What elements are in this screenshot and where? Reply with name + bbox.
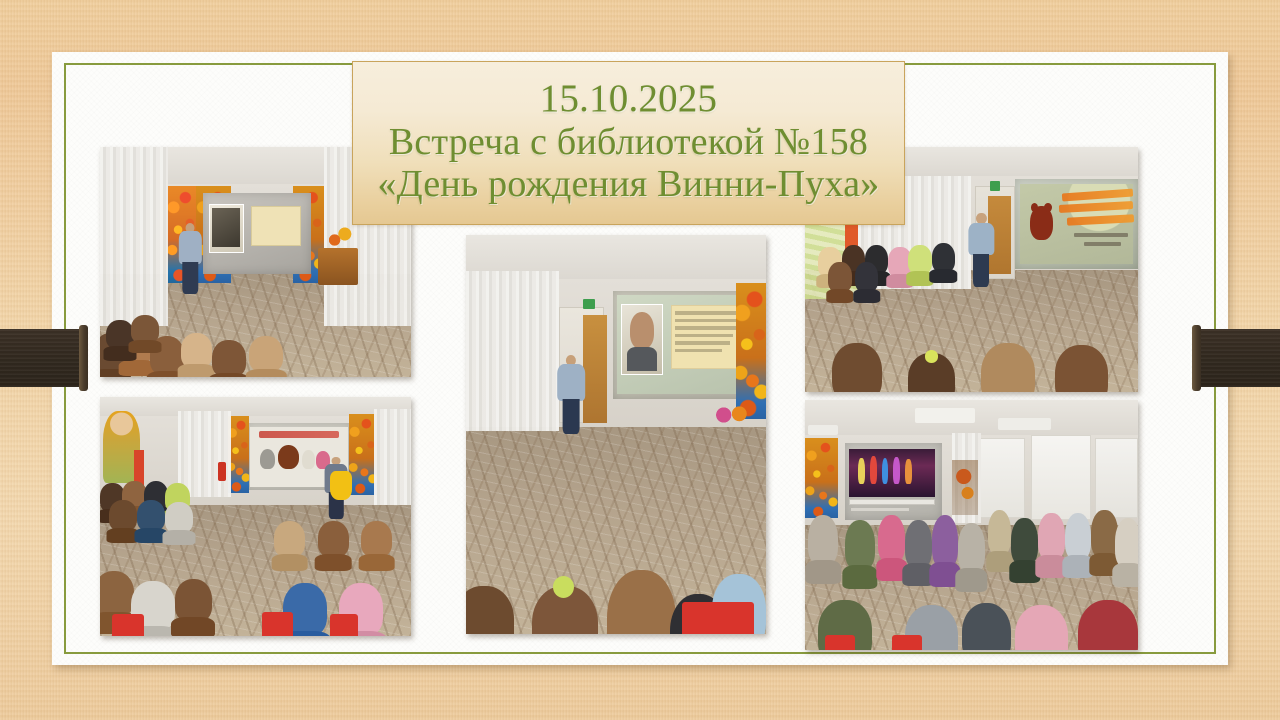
- photo-bottom-left[interactable]: [100, 397, 411, 636]
- ribbon-cap-left: [79, 325, 88, 391]
- video-player-controls: [849, 499, 935, 505]
- exit-sign-icon: [583, 299, 595, 309]
- fire-extinguisher: [218, 462, 226, 481]
- title-line-event: Встреча с библиотекой №158: [389, 123, 868, 161]
- photo-bottom-right[interactable]: [805, 400, 1138, 650]
- ceiling-light: [808, 425, 838, 435]
- exit-sign-icon: [990, 181, 1000, 191]
- yellow-prop: [330, 471, 352, 500]
- slide-white-panel: 15.10.2025 Встреча с библиотекой №158 «Д…: [52, 52, 1228, 665]
- hair-flower-decoration: [553, 576, 574, 598]
- ribbon-cap-right: [1192, 325, 1201, 391]
- ceiling-light: [915, 408, 975, 423]
- title-line-date: 15.10.2025: [540, 79, 718, 118]
- ceiling-light: [998, 418, 1051, 431]
- hair-flower-decoration: [925, 350, 938, 362]
- title-line-subject: «День рождения Винни-Пуха»: [378, 165, 880, 203]
- slide-title-box: 15.10.2025 Встреча с библиотекой №158 «Д…: [352, 61, 905, 225]
- slide-canvas: 15.10.2025 Встреча с библиотекой №158 «Д…: [0, 0, 1280, 720]
- decorative-ribbon-left: [0, 329, 84, 387]
- projection-screen-center: [613, 291, 751, 399]
- projection-screen-top-right: [1015, 179, 1138, 270]
- projection-screen-bottom-right: [845, 443, 942, 521]
- photo-center[interactable]: [466, 235, 766, 634]
- decorative-ribbon-right: [1196, 329, 1280, 387]
